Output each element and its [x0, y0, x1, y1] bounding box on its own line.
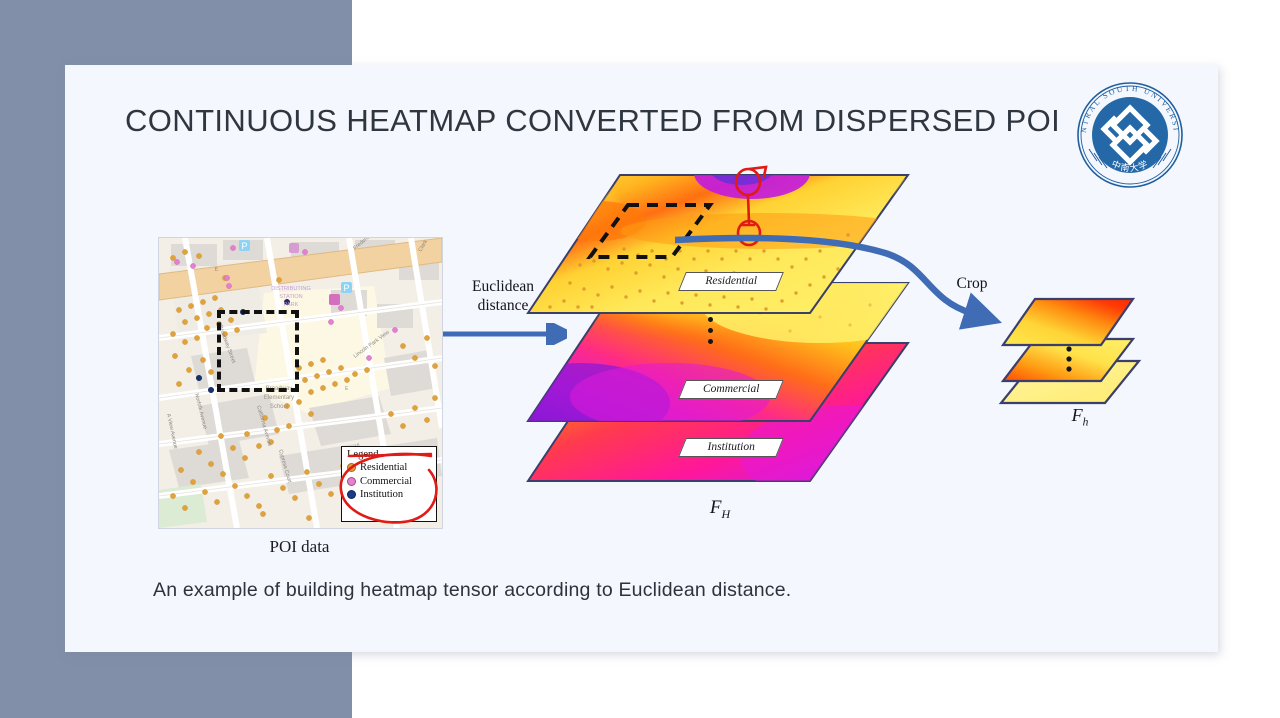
svg-text:Elementary: Elementary	[264, 395, 294, 401]
layer-tag-commercial: Commercial	[678, 380, 784, 399]
legend-swatch-institution	[347, 490, 356, 499]
tensor-ellipsis	[708, 317, 713, 350]
legend-label-commercial: Commercial	[360, 475, 412, 489]
legend-swatch-commercial	[347, 477, 356, 486]
svg-text:DISTRIBUTING: DISTRIBUTING	[271, 286, 310, 292]
poi-map: P P E Frederick Street	[158, 237, 443, 529]
legend-label-residential: Residential	[360, 461, 407, 475]
poi-map-label: POI data	[158, 537, 441, 557]
layer-tag-institution: Institution	[678, 438, 784, 457]
svg-text:STATION: STATION	[279, 294, 302, 300]
slide-card: CONTINUOUS HEATMAP CONVERTED FROM DISPER…	[65, 65, 1218, 652]
slide-root: CONTINUOUS HEATMAP CONVERTED FROM DISPER…	[0, 0, 1280, 718]
legend-item-commercial: Commercial	[342, 475, 436, 489]
legend-title: Legend	[342, 447, 436, 461]
svg-text:P: P	[343, 283, 349, 293]
map-selection-box	[217, 310, 299, 392]
map-legend: Legend Residential Commercial Institutio…	[341, 446, 437, 522]
cropped-heatmap-stack	[993, 291, 1143, 411]
figure-area: P P E Frederick Street	[65, 165, 1218, 575]
legend-item-residential: Residential	[342, 461, 436, 475]
svg-text:School: School	[270, 404, 288, 410]
legend-label-institution: Institution	[360, 488, 403, 502]
layer-tag-residential: Residential	[678, 272, 784, 291]
legend-swatch-residential	[347, 463, 356, 472]
tensor-caption: FH	[660, 497, 780, 522]
figure-caption: An example of building heatmap tensor ac…	[153, 579, 1153, 602]
crop-result-caption: Fh	[1025, 405, 1135, 429]
svg-text:P: P	[241, 241, 247, 251]
svg-text:PARK: PARK	[284, 302, 299, 308]
page-title: CONTINUOUS HEATMAP CONVERTED FROM DISPER…	[125, 103, 1060, 139]
legend-item-institution: Institution	[342, 488, 436, 502]
